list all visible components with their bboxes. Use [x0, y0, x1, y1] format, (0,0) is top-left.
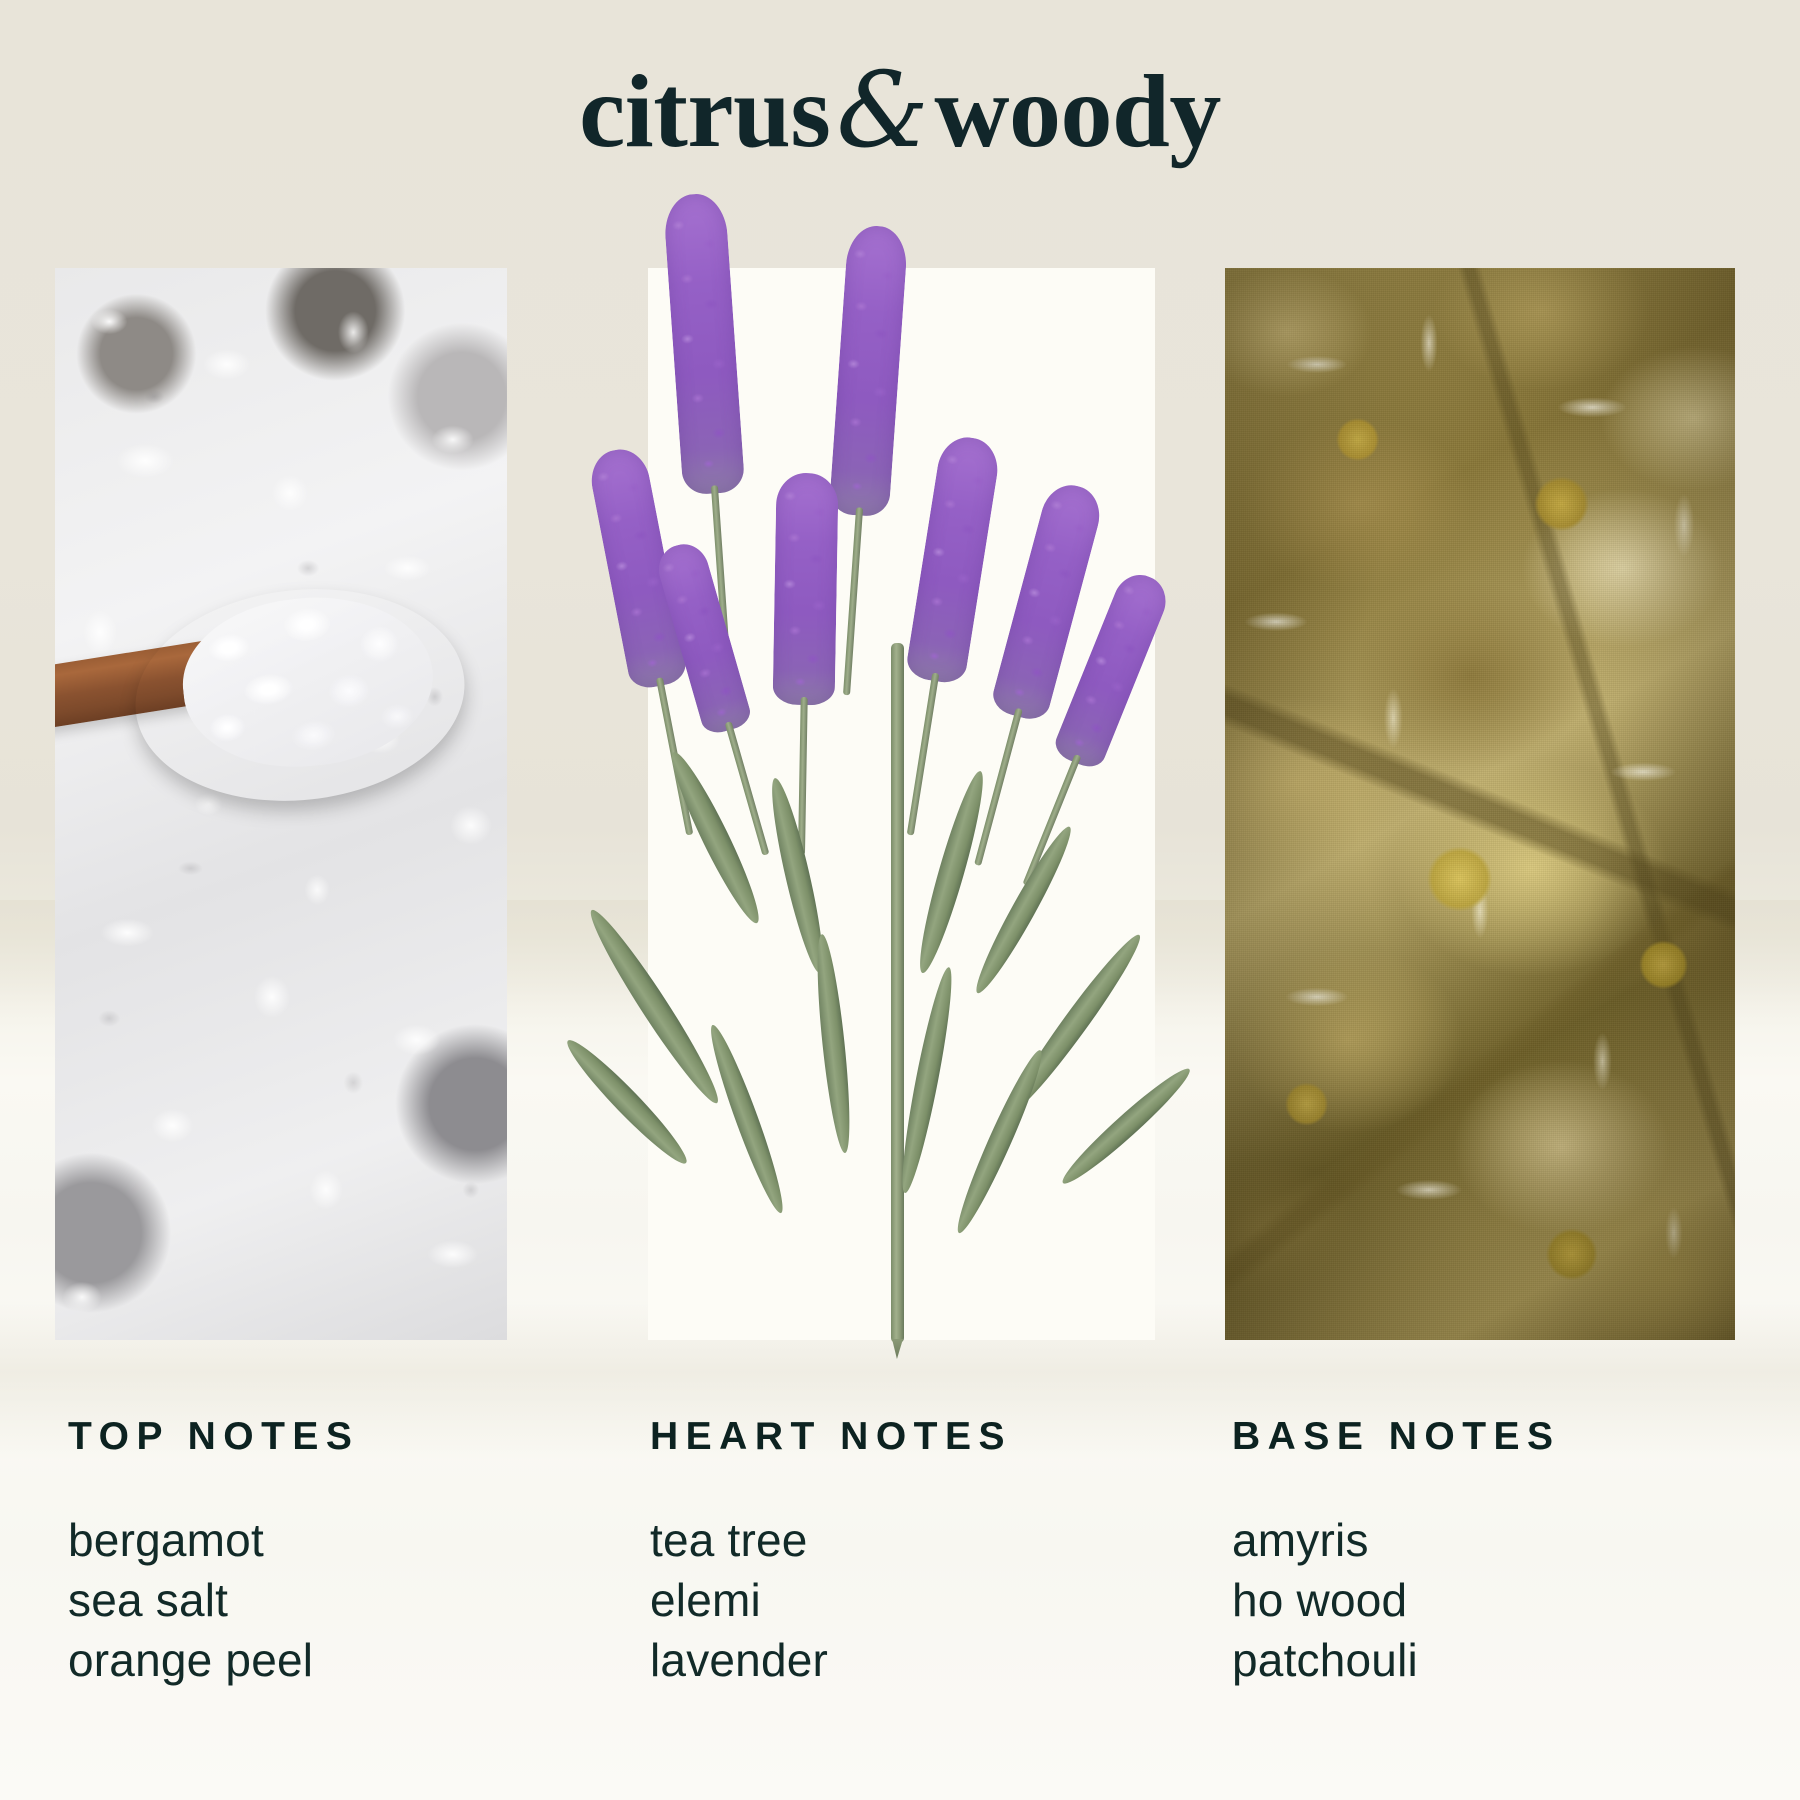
notes-column-base: BASE NOTES amyris ho wood patchouli [1232, 1415, 1692, 1690]
base-notes-heading: BASE NOTES [1232, 1415, 1692, 1459]
list-item: lavender [650, 1631, 1110, 1691]
top-notes-list: bergamot sea salt orange peel [68, 1511, 528, 1690]
title-word-woody: woody [934, 54, 1220, 169]
chamomile-photo [1225, 268, 1735, 1340]
list-item: sea salt [68, 1571, 528, 1631]
list-item: tea tree [650, 1511, 1110, 1571]
page-title: citrus&woody [0, 58, 1800, 164]
fragrance-notes-poster: citrus&woody [0, 0, 1800, 1800]
heart-notes-heading: HEART NOTES [650, 1415, 1110, 1459]
lavender-photo [648, 268, 1155, 1340]
heart-notes-list: tea tree elemi lavender [650, 1511, 1110, 1690]
list-item: elemi [650, 1571, 1110, 1631]
lavender-bouquet [648, 173, 1155, 1423]
salt-crystal-shadows [55, 268, 507, 1340]
chamomile-vignette [1225, 268, 1735, 1340]
title-word-citrus: citrus [579, 54, 830, 169]
lavender-leaf-10 [949, 1046, 1050, 1238]
top-notes-heading: TOP NOTES [68, 1415, 528, 1459]
lavender-main-stem [891, 643, 904, 1343]
list-item: amyris [1232, 1511, 1692, 1571]
list-item: ho wood [1232, 1571, 1692, 1631]
notes-column-top: TOP NOTES bergamot sea salt orange peel [68, 1415, 528, 1690]
notes-column-heart: HEART NOTES tea tree elemi lavender [650, 1415, 1110, 1690]
list-item: orange peel [68, 1631, 528, 1691]
sea-salt-photo [55, 268, 507, 1340]
lavender-leaf-7 [811, 933, 856, 1154]
lavender-leaf-9 [702, 1021, 791, 1216]
lavender-leaf-8 [894, 965, 959, 1195]
base-notes-list: amyris ho wood patchouli [1232, 1511, 1692, 1690]
lavender-leaf-12 [1056, 1061, 1197, 1191]
list-item: bergamot [68, 1511, 528, 1571]
list-item: patchouli [1232, 1631, 1692, 1691]
title-ampersand: & [830, 49, 934, 171]
